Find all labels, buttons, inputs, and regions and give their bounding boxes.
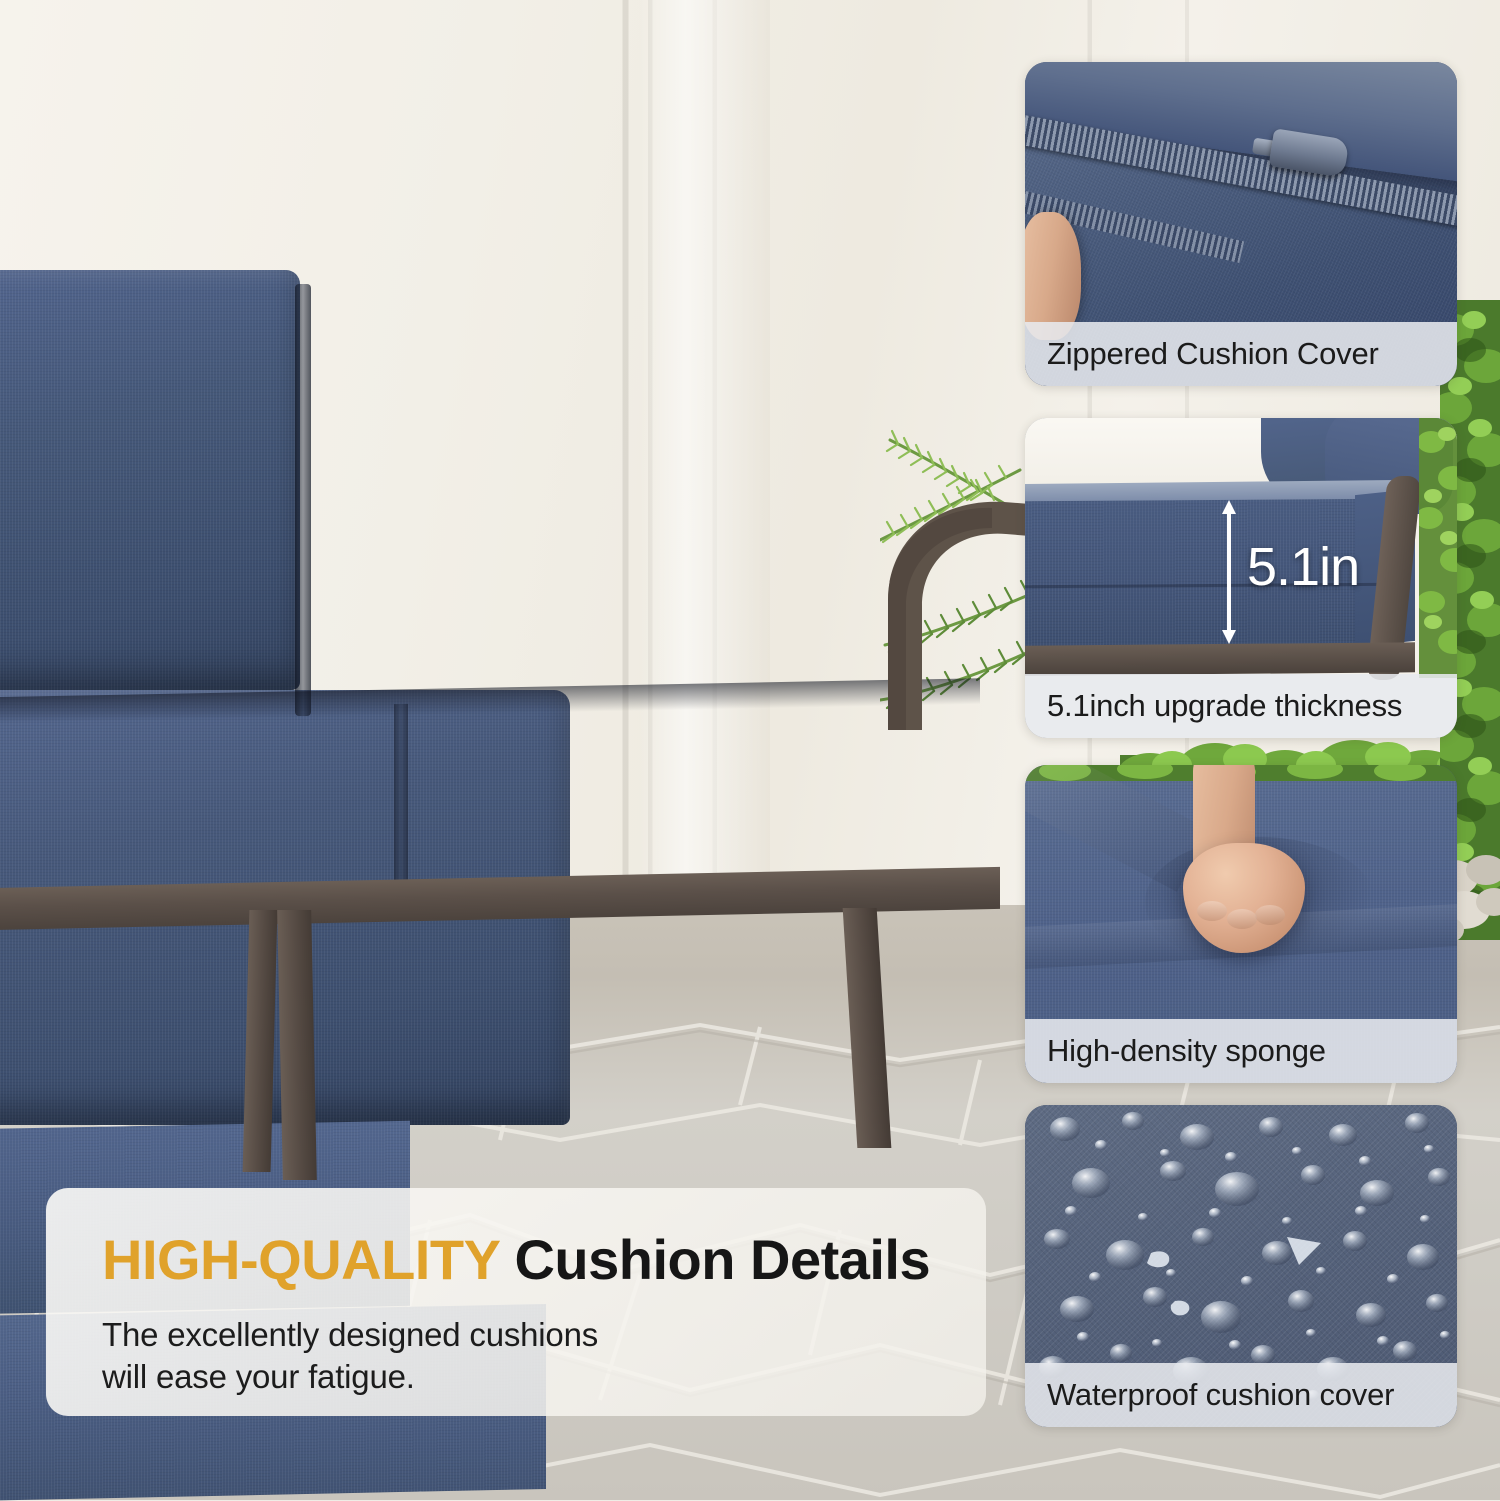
infographic-root: Zippered Cushion Cover — [0, 0, 1500, 1500]
subcopy-line-2: will ease your fatigue. — [102, 1356, 986, 1398]
marketing-text-card: HIGH-QUALITY Cushion Details The excelle… — [46, 1188, 986, 1416]
page-title: HIGH-QUALITY Cushion Details — [102, 1232, 986, 1288]
feature-panel-high-density-sponge[interactable]: High-density sponge — [1025, 765, 1457, 1083]
dimension-label: 5.1in — [1247, 536, 1359, 598]
seat-cushion-seam — [394, 704, 408, 886]
headline-rest: Cushion Details — [499, 1228, 930, 1291]
headline-accent: HIGH-QUALITY — [102, 1228, 499, 1291]
panel-caption-sponge: High-density sponge — [1025, 1019, 1457, 1083]
feature-panel-waterproof-cover[interactable]: Waterproof cushion cover — [1025, 1105, 1457, 1427]
feature-panel-zippered-cushion-cover[interactable]: Zippered Cushion Cover — [1025, 62, 1457, 386]
back-cushion-seam — [295, 284, 311, 716]
subcopy-line-1: The excellently designed cushions — [102, 1314, 986, 1356]
hand-thumb — [1025, 212, 1081, 340]
sofa-leg-left-2 — [277, 910, 317, 1180]
panel-caption-zippered: Zippered Cushion Cover — [1025, 322, 1457, 386]
feature-panel-upgrade-thickness[interactable]: 5.1in 5.1inch upgrade thickness — [1025, 418, 1457, 738]
panel-caption-thickness: 5.1inch upgrade thickness — [1025, 674, 1457, 738]
panel-greenery — [1419, 418, 1457, 678]
dimension-arrow-icon — [1221, 500, 1237, 644]
frame-rail-detail — [1025, 642, 1415, 675]
subcopy: The excellently designed cushions will e… — [102, 1314, 986, 1398]
back-cushion-left — [0, 270, 300, 690]
sofa — [0, 270, 1030, 930]
panel-caption-waterproof: Waterproof cushion cover — [1025, 1363, 1457, 1427]
